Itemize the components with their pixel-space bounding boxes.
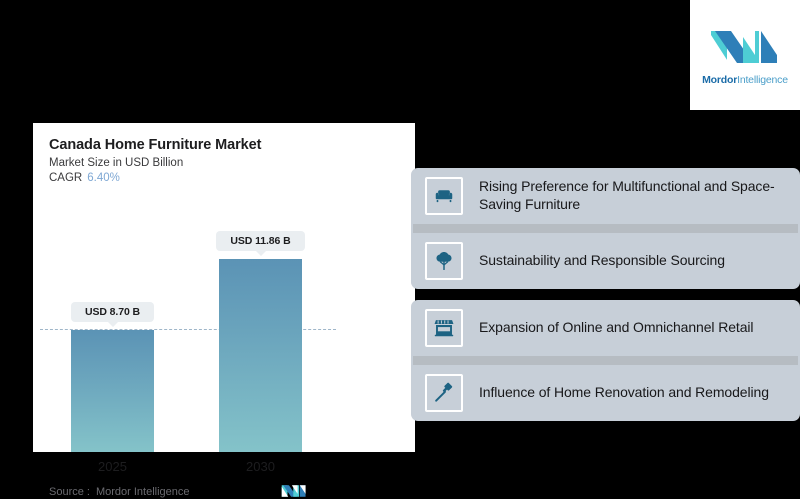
chart-title: Canada Home Furniture Market [49,137,399,153]
driver-divider [413,356,798,365]
brand-wordmark: MordorIntelligence [702,74,788,86]
x-axis-tick-2030: 2030 [219,459,302,474]
driver-divider [413,224,798,233]
driver-item-sustainability-sourcing[interactable]: Sustainability and Responsible Sourcing [411,233,800,289]
driver-item-label: Rising Preference for Multifunctional an… [479,178,788,214]
mordor-m-logo-icon [281,483,307,499]
chart-subtitle: Market Size in USD Billion [49,157,399,169]
driver-item-online-omnichannel-retail[interactable]: Expansion of Online and Omnichannel Reta… [411,300,800,356]
driver-item-label: Expansion of Online and Omnichannel Reta… [479,319,753,337]
driver-group-1: Rising Preference for Multifunctional an… [411,168,800,289]
chart-source: Source : Mordor Intelligence [49,486,401,498]
driver-item-label: Sustainability and Responsible Sourcing [479,252,725,270]
brand-name-bold: Mordor [702,74,737,86]
mordor-m-logo-icon [709,25,781,69]
tree-icon [425,242,463,280]
driver-group-2: Expansion of Online and Omnichannel Reta… [411,300,800,421]
driver-item-label: Influence of Home Renovation and Remodel… [479,384,769,402]
bar-value-label-2030: USD 11.86 B [216,231,305,251]
driver-item-multifunctional-furniture[interactable]: Rising Preference for Multifunctional an… [411,168,800,224]
source-name: Mordor Intelligence [96,486,190,498]
storefront-icon [425,309,463,347]
sofa-icon [425,177,463,215]
x-axis-tick-2025: 2025 [71,459,154,474]
driver-item-home-renovation-remodeling[interactable]: Influence of Home Renovation and Remodel… [411,365,800,421]
chart-card: Canada Home Furniture Market Market Size… [33,123,415,452]
hammer-icon [425,374,463,412]
brand-logo-card: MordorIntelligence [690,0,800,110]
brand-name-light: Intelligence [737,74,788,86]
source-label: Source : [49,486,90,498]
bar-2025 [71,330,154,452]
bar-2030 [219,259,302,452]
market-drivers-panel: Rising Preference for Multifunctional an… [411,168,800,421]
bar-value-label-2025: USD 8.70 B [71,302,154,322]
chart-plot-area: USD 8.70 B USD 11.86 B 2025 2030 Source … [33,183,415,452]
